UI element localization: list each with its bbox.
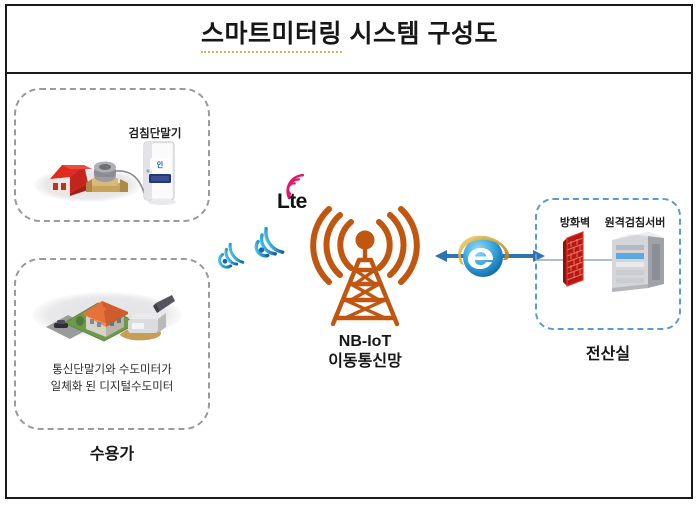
server-tower-icon (608, 228, 670, 294)
svg-text:인: 인 (157, 160, 163, 169)
lte-logo-text: Lte (277, 190, 307, 214)
datacenter-zone-label: 전산실 (535, 340, 681, 364)
digital-meter-caption: 통신단말기와 수도미터가 일체화 된 디지털수도미터 (22, 362, 202, 395)
terminal-label: 검침단말기 (110, 125, 200, 141)
customer-zone-label: 수용가 (22, 440, 202, 464)
house-meter-illustration (40, 143, 150, 199)
network-label: NB-IoT 이동통신망 (295, 332, 435, 371)
title-divider (5, 72, 693, 74)
cell-tower-icon (313, 206, 417, 330)
page-title: 스마트미터링 시스템 구성도 (0, 22, 699, 47)
meter-terminal-device: 인 (142, 141, 182, 205)
house-lawn-illustration (44, 283, 174, 345)
page-title-rest: 시스템 구성도 (342, 20, 498, 48)
firewall-brick-icon (563, 232, 589, 288)
internet-explorer-icon (455, 228, 513, 284)
diagram-canvas: 스마트미터링 시스템 구성도 검침단말기 (0, 0, 699, 508)
page-title-underlined: 스마트미터링 (201, 20, 342, 53)
firewall-label: 방화벽 (550, 214, 600, 230)
